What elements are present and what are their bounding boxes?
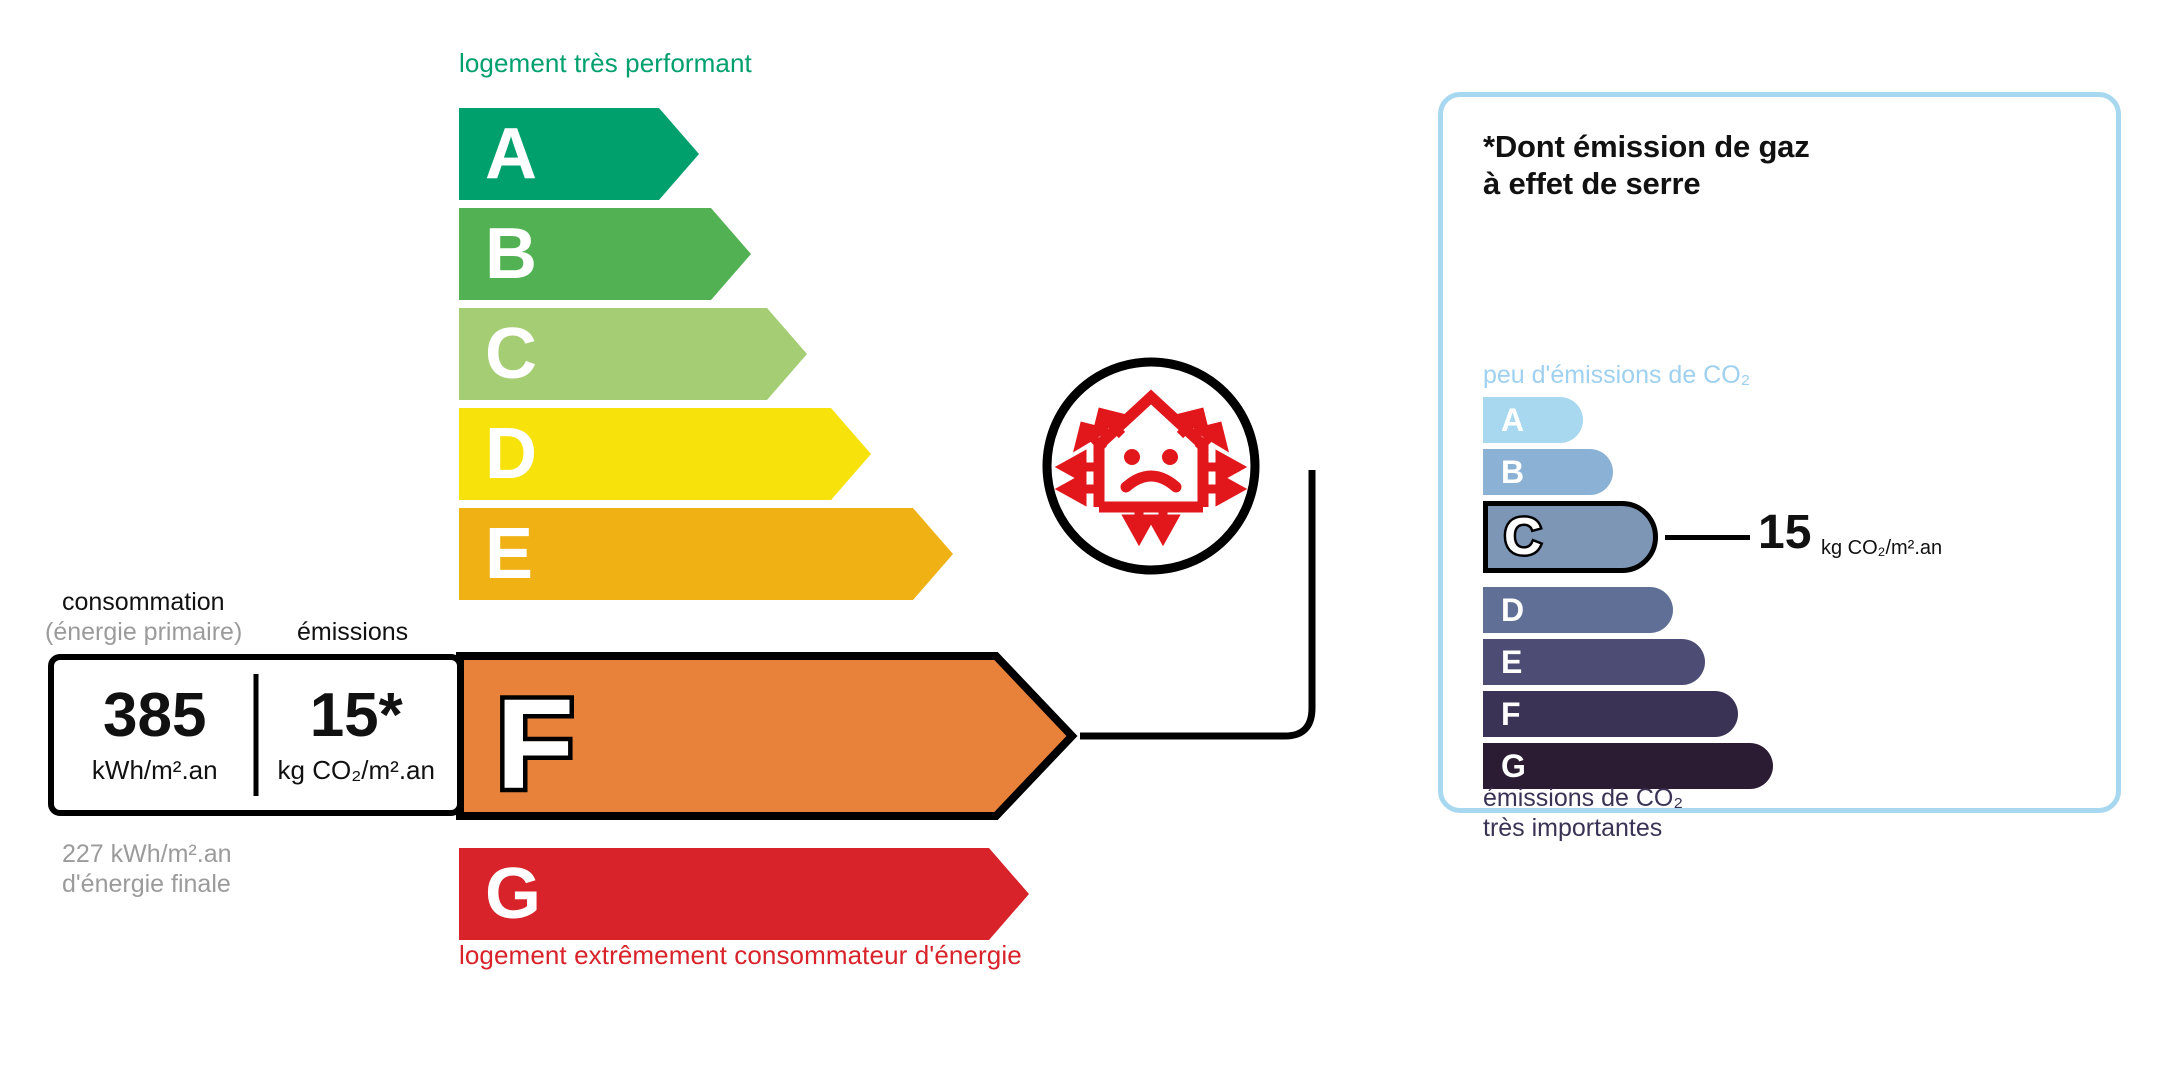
value-box: 385 kWh/m².an 15* kg CO₂/m².an xyxy=(48,654,463,816)
primary-energy-value: 385 xyxy=(103,685,206,747)
bottom-caption: logement extrêmement consommateur d'éner… xyxy=(459,940,1022,971)
energy-performance-chart: logement très performant A B C D E xyxy=(0,0,1420,1079)
final-energy-line1: 227 kWh/m².an xyxy=(62,840,232,869)
co2-value-unit: kg CO₂/m².an xyxy=(278,755,435,786)
co2-top-caption: peu d'émissions de CO₂ xyxy=(1483,361,1750,390)
co2-callout-line xyxy=(1665,535,1750,540)
sad-house-heat-loss-icon xyxy=(1042,357,1260,575)
co2-emissions-panel: *Dont émission de gaz à effet de serre p… xyxy=(1438,92,2121,813)
co2-panel-title-line1: *Dont émission de gaz xyxy=(1483,129,1810,164)
co2-band-letter-F: F xyxy=(1501,698,1521,730)
consumption-sublabel: (énergie primaire) xyxy=(45,618,242,647)
co2-band-B[interactable]: B xyxy=(1483,449,1613,495)
co2-band-letter-A: A xyxy=(1501,404,1524,436)
final-energy-line2: d'énergie finale xyxy=(62,870,231,899)
top-caption: logement très performant xyxy=(459,48,752,79)
co2-band-A[interactable]: A xyxy=(1483,397,1583,443)
band-letter-F: F xyxy=(496,673,574,816)
co2-panel-title: *Dont émission de gaz à effet de serre xyxy=(1483,129,1810,202)
co2-band-letter-C: C xyxy=(1504,511,1542,563)
co2-callout-unit: kg CO₂/m².an xyxy=(1821,537,1942,560)
co2-value: 15* xyxy=(310,685,403,747)
co2-value-cell: 15* kg CO₂/m².an xyxy=(256,660,458,810)
co2-bottom-caption-line2: très importantes xyxy=(1483,814,1662,842)
co2-band-letter-G: G xyxy=(1501,750,1526,782)
co2-band-letter-E: E xyxy=(1501,646,1522,678)
co2-band-C-selected[interactable]: C xyxy=(1483,501,1658,573)
co2-band-F[interactable]: F xyxy=(1483,691,1738,737)
co2-bottom-caption-line1: émissions de CO₂ xyxy=(1483,784,1683,812)
co2-band-letter-B: B xyxy=(1501,456,1524,488)
co2-band-letter-D: D xyxy=(1501,594,1524,626)
co2-band-E[interactable]: E xyxy=(1483,639,1705,685)
co2-band-D[interactable]: D xyxy=(1483,587,1673,633)
dpe-energy-label: logement très performant A B C D E xyxy=(0,0,2169,1079)
co2-panel-title-line2: à effet de serre xyxy=(1483,166,1700,201)
emissions-label: émissions xyxy=(297,618,408,647)
primary-energy-cell: 385 kWh/m².an xyxy=(54,660,256,810)
consumption-label: consommation xyxy=(62,588,225,617)
primary-energy-unit: kWh/m².an xyxy=(92,755,218,786)
co2-callout-value: 15 xyxy=(1758,509,1811,557)
co2-bottom-caption: émissions de CO₂ très importantes xyxy=(1483,783,1683,843)
